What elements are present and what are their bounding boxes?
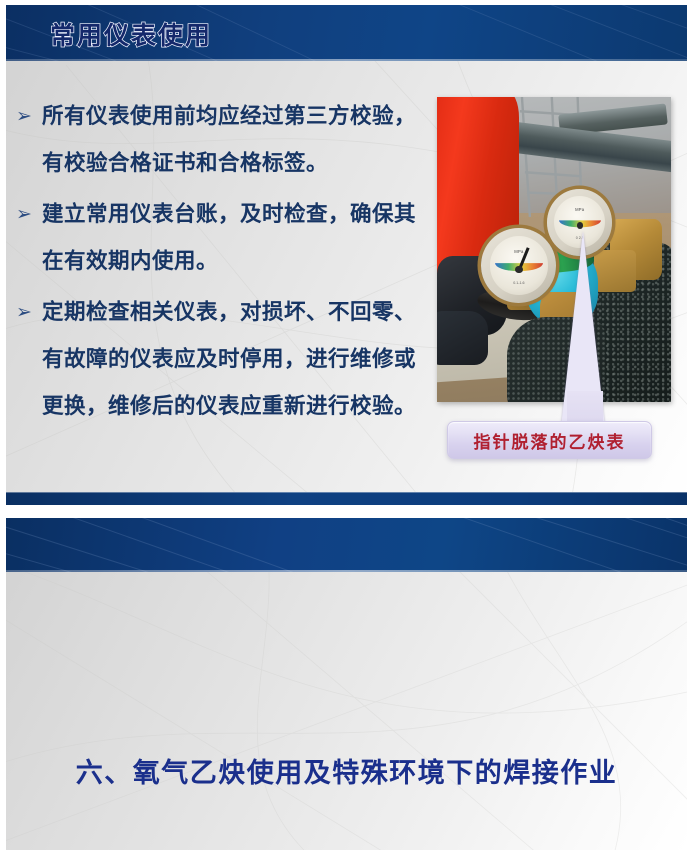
photo-pressure-gauge-with-needle: MPa 0.1-1.6 <box>481 228 556 303</box>
gauge-face: MPa 0.1-1.6 <box>490 236 548 294</box>
bullet-list: ➢ 所有仪表使用前均应经过第三方校验，有校验合格证书和合格标签。 ➢ 建立常用仪… <box>14 93 424 434</box>
arrow-bullet-icon: ➢ <box>16 93 32 140</box>
gauge-range-label: 0.1-1.6 <box>490 281 548 285</box>
gauge-label: MPa <box>554 207 605 212</box>
list-item-text: 建立常用仪表台账，及时检查，确保其在有效期内使用。 <box>42 191 424 285</box>
photo-content: MPa 0.1-1.6 MPa 0 2.5 <box>437 97 671 402</box>
list-item: ➢ 定期检查相关仪表，对损坏、不回零、有故障的仪表应及时停用，进行维修或更换，维… <box>14 289 424 430</box>
gauge-hub <box>515 266 523 274</box>
photo-caption-text: 指针脱落的乙炔表 <box>474 428 626 453</box>
slide-1-canvas: 常用仪表使用 ➢ 所有仪表使用前均应经过第三方校验，有校验合格证书和合格标签。 … <box>6 5 687 505</box>
section-title: 六、氧气乙炔使用及特殊环境下的焊接作业 <box>6 751 687 790</box>
arrow-bullet-icon: ➢ <box>16 289 32 336</box>
arrow-bullet-icon: ➢ <box>16 191 32 238</box>
gauge-hub <box>577 222 584 229</box>
list-item-text: 定期检查相关仪表，对损坏、不回零、有故障的仪表应及时停用，进行维修或更换，维修后… <box>42 289 424 430</box>
header-decorative-streaks <box>6 518 687 572</box>
slide-1-header-bar: 常用仪表使用 <box>6 5 687 61</box>
list-item: ➢ 所有仪表使用前均应经过第三方校验，有校验合格证书和合格标签。 <box>14 93 424 187</box>
slide-2-canvas: 六、氧气乙炔使用及特殊环境下的焊接作业 <box>6 518 687 850</box>
slide-1-footer-bar <box>6 492 687 505</box>
list-item: ➢ 建立常用仪表台账，及时检查，确保其在有效期内使用。 <box>14 191 424 285</box>
page-title: 常用仪表使用 <box>50 16 212 52</box>
slide-2-header-bar <box>6 518 687 572</box>
list-item-text: 所有仪表使用前均应经过第三方校验，有校验合格证书和合格标签。 <box>42 93 424 187</box>
photo-worker-boot-second <box>437 311 488 366</box>
instrument-photo: MPa 0.1-1.6 MPa 0 2.5 <box>437 97 671 402</box>
slide-section-divider: 六、氧气乙炔使用及特殊环境下的焊接作业 <box>0 512 693 850</box>
slide-instrument-usage: 常用仪表使用 ➢ 所有仪表使用前均应经过第三方校验，有校验合格证书和合格标签。 … <box>0 0 693 512</box>
photo-caption-callout: 指针脱落的乙炔表 <box>447 421 652 459</box>
gauge-label: MPa <box>490 249 548 254</box>
